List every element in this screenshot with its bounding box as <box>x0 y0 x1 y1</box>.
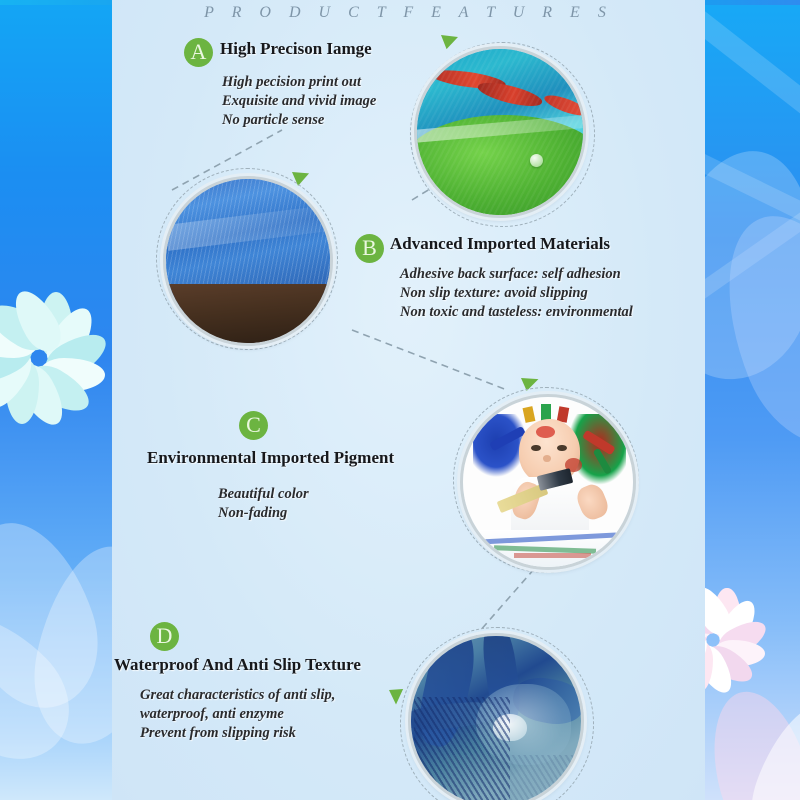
bullets-d: Great characteristics of anti slip, wate… <box>140 686 335 743</box>
product-features-infographic: P R O D U C T F E A T U R E S <box>0 0 800 800</box>
bullets-c: Beautiful color Non-fading <box>218 485 309 523</box>
bullet-line: Adhesive back surface: self adhesion <box>400 265 633 284</box>
bullet-line: Exquisite and vivid image <box>222 92 376 111</box>
heading-c: Environmental Imported Pigment <box>147 448 394 468</box>
heading-a: High Precison Iamge <box>220 39 372 59</box>
bullet-line: Non-fading <box>218 504 309 523</box>
bullet-line: Beautiful color <box>218 485 309 504</box>
photo-blue-fabric <box>163 176 333 346</box>
photo-water-texture <box>408 633 584 800</box>
left-decorative-panel <box>0 0 112 800</box>
bullet-line: High pecision print out <box>222 73 376 92</box>
decor-band <box>705 0 800 157</box>
heading-b: Advanced Imported Materials <box>390 234 610 254</box>
bullet-line: Non slip texture: avoid slipping <box>400 284 633 303</box>
bullet-line: Prevent from slipping risk <box>140 724 335 743</box>
right-decorative-panel <box>705 0 800 800</box>
photo-koi-lotus <box>414 46 586 218</box>
bullets-a: High pecision print out Exquisite and vi… <box>222 73 376 130</box>
heading-d: Waterproof And Anti Slip Texture <box>114 655 361 675</box>
bullet-line: No particle sense <box>222 111 376 130</box>
bullets-b: Adhesive back surface: self adhesion Non… <box>400 265 633 322</box>
badge-a: A <box>184 38 213 67</box>
badge-b: B <box>355 234 384 263</box>
bullet-line: Non toxic and tasteless: environmental <box>400 303 633 322</box>
badge-d: D <box>150 622 179 651</box>
center-panel: P R O D U C T F E A T U R E S <box>112 0 705 800</box>
bullet-line: Great characteristics of anti slip, <box>140 686 335 705</box>
bullet-line: waterproof, anti enzyme <box>140 705 335 724</box>
badge-c: C <box>239 411 268 440</box>
photo-baby-paint <box>460 394 636 570</box>
